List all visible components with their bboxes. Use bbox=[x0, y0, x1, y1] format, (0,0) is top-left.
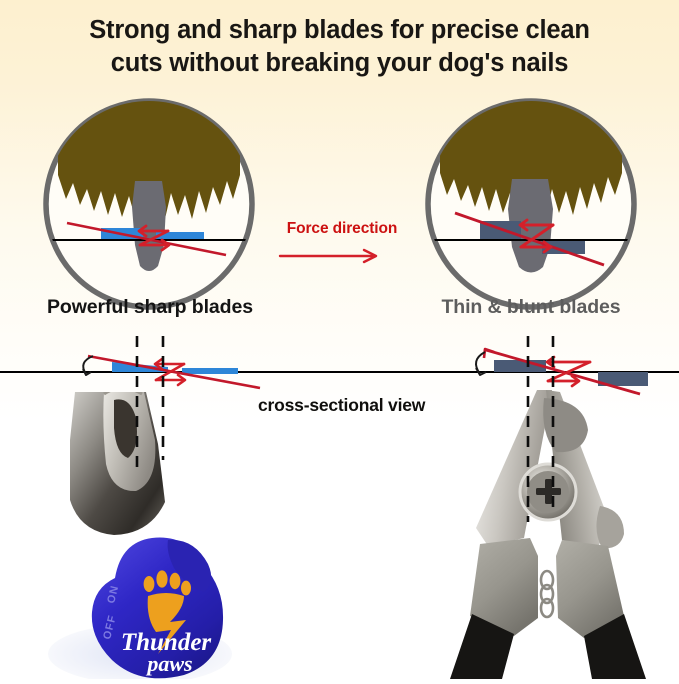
product-photo-metal-clipper bbox=[432, 368, 672, 679]
clipper-cutting-blade bbox=[543, 398, 588, 452]
clipper-thumb-rest bbox=[596, 506, 624, 548]
blunt-blade-cross-section-svg bbox=[422, 95, 640, 313]
label-sharp-blades: Powerful sharp blades bbox=[0, 296, 300, 319]
diagram-sharp-blades bbox=[40, 95, 258, 313]
diagram-blunt-blades bbox=[422, 95, 640, 313]
label-blunt-blades: Thin & blunt blades bbox=[381, 296, 679, 319]
infographic-root: Strong and sharp blades for precise clea… bbox=[0, 0, 679, 679]
sharp-blade-cross-section-svg bbox=[40, 95, 258, 313]
brand-wordmark-line-2: paws bbox=[145, 651, 192, 676]
cross-blade-left-sharp-b bbox=[182, 368, 238, 374]
headline-line-2: cuts without breaking your dog's nails bbox=[46, 47, 633, 80]
force-direction-block: Force direction bbox=[276, 220, 408, 265]
metal-clipper-svg bbox=[432, 368, 672, 679]
product-photo-thunder-paws: ON OFF Thunder paws bbox=[18, 392, 318, 679]
page-title: Strong and sharp blades for precise clea… bbox=[0, 14, 679, 80]
cross-force-arrowhead-right bbox=[484, 349, 494, 358]
clipper-spring-coil bbox=[541, 571, 553, 617]
force-direction-label: Force direction bbox=[276, 220, 408, 238]
headline-line-1: Strong and sharp blades for precise clea… bbox=[46, 14, 633, 47]
rotation-arc-arrow-left bbox=[83, 356, 93, 375]
thunder-paws-clipper-svg: ON OFF Thunder paws bbox=[18, 392, 318, 679]
force-direction-arrow-icon bbox=[276, 247, 384, 265]
